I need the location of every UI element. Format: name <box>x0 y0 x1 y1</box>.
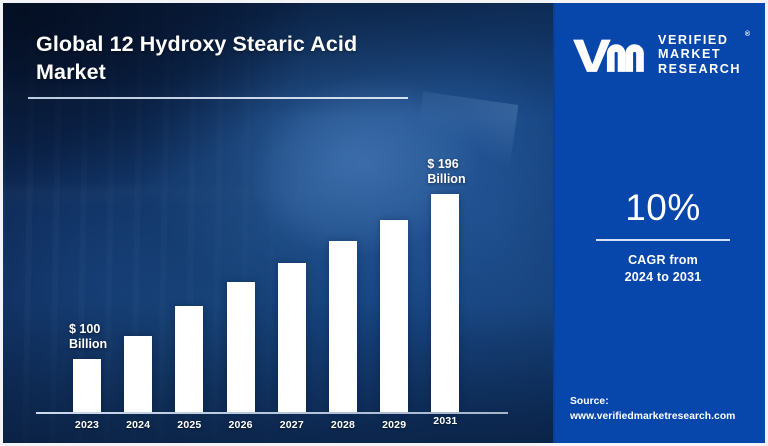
left-panel: Global 12 Hydroxy Stearic Acid Market $ … <box>3 3 553 443</box>
x-tick-2031: 2031 <box>419 415 471 427</box>
bar-2028 <box>329 241 357 412</box>
brand-line-verified: VERIFIED <box>658 33 741 47</box>
x-tick-2028: 2028 <box>317 419 369 431</box>
bar-2027 <box>278 263 306 412</box>
x-tick-2029: 2029 <box>368 419 420 431</box>
bar-2023 <box>73 359 101 412</box>
brand-line-market: MARKET <box>658 47 741 61</box>
x-tick-2026: 2026 <box>215 419 267 431</box>
cagr-divider <box>596 239 730 241</box>
bar-2025 <box>175 306 203 412</box>
cagr-value: 10% <box>555 189 768 226</box>
infographic-poster: Global 12 Hydroxy Stearic Acid Market $ … <box>0 0 768 446</box>
value-label-2031: $ 196 Billion <box>427 157 465 188</box>
brand-line-research: RESEARCH <box>658 62 741 76</box>
cagr-block: 10% CAGR from 2024 to 2031 <box>555 189 768 287</box>
x-tick-2025: 2025 <box>163 419 215 431</box>
right-panel: VERIFIED MARKET RESEARCH ® 10% CAGR from… <box>553 3 768 443</box>
bar-chart: $ 100 Billion$ 196 Billion 2023202420252… <box>3 3 553 443</box>
x-tick-2023: 2023 <box>61 419 113 431</box>
x-tick-2027: 2027 <box>266 419 318 431</box>
vmr-monogram-icon <box>571 35 649 75</box>
cagr-caption: CAGR from 2024 to 2031 <box>555 252 768 288</box>
bar-2031 <box>431 194 459 412</box>
brand-logo[interactable]: VERIFIED MARKET RESEARCH ® <box>571 33 741 76</box>
bar-2026 <box>227 282 255 412</box>
registered-trademark-icon: ® <box>745 31 750 39</box>
x-axis-line <box>36 412 508 414</box>
value-label-2023: $ 100 Billion <box>69 322 107 353</box>
brand-logo-text: VERIFIED MARKET RESEARCH ® <box>658 33 741 76</box>
source-text: Source: www.verifiedmarketresearch.com <box>570 395 735 425</box>
bar-2024 <box>124 336 152 412</box>
x-tick-2024: 2024 <box>112 419 164 431</box>
bar-2029 <box>380 220 408 412</box>
